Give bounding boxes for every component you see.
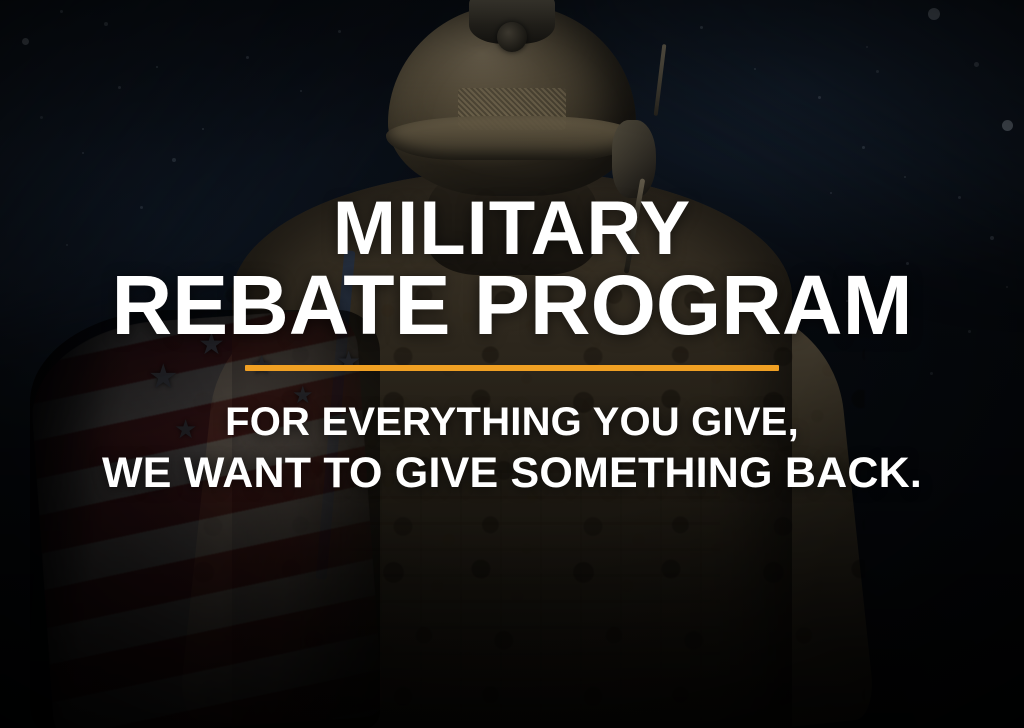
title-line-1: MILITARY bbox=[111, 196, 912, 263]
orange-divider bbox=[245, 365, 779, 371]
banner-content: MILITARY REBATE PROGRAM FOR EVERYTHING Y… bbox=[0, 0, 1024, 728]
title-line-2: REBATE PROGRAM bbox=[111, 269, 912, 343]
banner-title: MILITARY REBATE PROGRAM bbox=[111, 196, 912, 343]
military-rebate-banner: ★ ★ ★ ★ ★ ★ MILITARY REBATE PROGRAM FOR … bbox=[0, 0, 1024, 728]
subtitle-line-2: WE WANT TO GIVE SOMETHING BACK. bbox=[102, 449, 922, 499]
subtitle-line-1: FOR EVERYTHING YOU GIVE, bbox=[102, 399, 922, 445]
banner-subtitle: FOR EVERYTHING YOU GIVE, WE WANT TO GIVE… bbox=[102, 399, 922, 499]
